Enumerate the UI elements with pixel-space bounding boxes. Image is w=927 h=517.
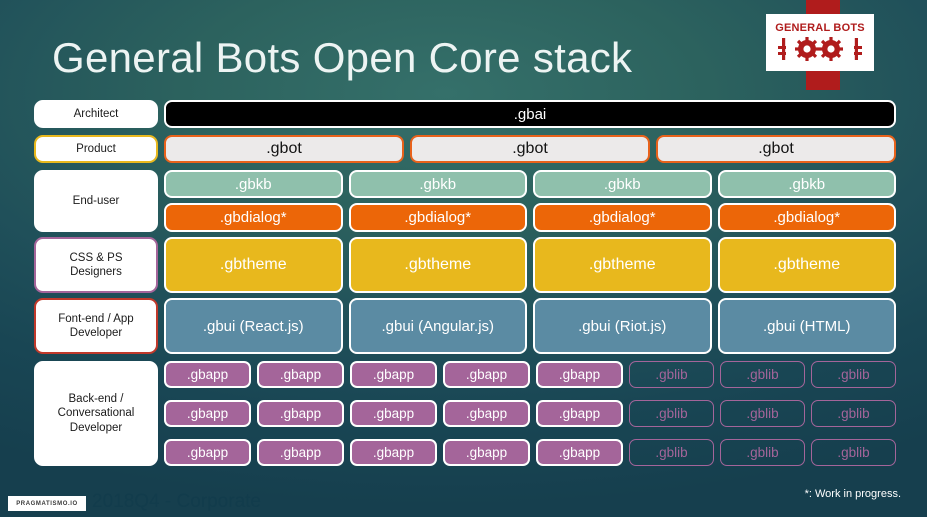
layer-cell-gblib[interactable]: .gblib xyxy=(720,400,805,427)
layer-cell-gbdialog[interactable]: .gbdialog* xyxy=(718,203,897,232)
layer-cell-gbui-react[interactable]: .gbui (React.js) xyxy=(164,298,343,354)
layer-cell-gblib[interactable]: .gblib xyxy=(720,439,805,466)
pragmatismo-logo-text: PRAGMATISMO.IO xyxy=(16,501,78,507)
role-label-text: End-user xyxy=(73,194,120,208)
layer-cell-gbkb[interactable]: .gbkb xyxy=(349,170,528,198)
layer-cell-gblib[interactable]: .gblib xyxy=(811,361,896,388)
layer-cell-gbapp[interactable]: .gbapp xyxy=(443,439,530,466)
layer-cell-gbapp[interactable]: .gbapp xyxy=(443,400,530,427)
layer-cell-gbui-riot[interactable]: .gbui (Riot.js) xyxy=(533,298,712,354)
layer-cell-gbapp[interactable]: .gbapp xyxy=(536,400,623,427)
role-label-line-1: CSS & PS xyxy=(69,251,122,265)
layer-cell-gbapp[interactable]: .gbapp xyxy=(164,400,251,427)
layer-cell-gbtheme[interactable]: .gbtheme xyxy=(349,237,528,293)
page-title: General Bots Open Core stack xyxy=(52,34,632,82)
role-label-line-3: Developer xyxy=(70,421,122,435)
layer-cell-gbui-angular[interactable]: .gbui (Angular.js) xyxy=(349,298,528,354)
role-label-line-2: Designers xyxy=(70,265,122,279)
layer-cell-gbapp[interactable]: .gbapp xyxy=(350,400,437,427)
layer-cell-gbtheme[interactable]: .gbtheme xyxy=(533,237,712,293)
role-label-text: Architect xyxy=(74,107,119,121)
role-label-line-1: Font-end / App xyxy=(58,312,133,326)
layer-cell-gblib[interactable]: .gblib xyxy=(629,361,714,388)
layer-cell-gbkb[interactable]: .gbkb xyxy=(533,170,712,198)
layer-cell-gbapp[interactable]: .gbapp xyxy=(350,361,437,388)
role-label-backend-developer: Back-end / Conversational Developer xyxy=(34,361,158,466)
role-label-designers: CSS & PS Designers xyxy=(34,237,158,293)
stack-diagram: Architect .gbai Product .gbot .gbot .gbo… xyxy=(34,100,896,480)
layer-row-gbtheme: .gbtheme .gbtheme .gbtheme .gbtheme xyxy=(164,237,896,293)
layer-cell-gbapp[interactable]: .gbapp xyxy=(443,361,530,388)
layer-cell-gbot[interactable]: .gbot xyxy=(164,135,404,163)
layer-cell-gbtheme[interactable]: .gbtheme xyxy=(718,237,897,293)
layer-cell-gbui-html[interactable]: .gbui (HTML) xyxy=(718,298,897,354)
role-label-line-2: Conversational xyxy=(58,406,135,420)
layer-cell-gblib[interactable]: .gblib xyxy=(629,400,714,427)
layer-cell-gbapp[interactable]: .gbapp xyxy=(350,439,437,466)
role-label-end-user: End-user xyxy=(34,170,158,232)
layer-row-gbapp-gblib: .gbapp .gbapp .gbapp .gbapp .gbapp .gbli… xyxy=(164,439,896,466)
layer-cell-gbapp[interactable]: .gbapp xyxy=(257,400,344,427)
layer-row-gbui: .gbui (React.js) .gbui (Angular.js) .gbu… xyxy=(164,298,896,354)
layer-cell-gblib[interactable]: .gblib xyxy=(720,361,805,388)
footnote-work-in-progress: *: Work in progress. xyxy=(805,488,901,500)
layer-cell-gbkb[interactable]: .gbkb xyxy=(718,170,897,198)
layer-cell-gbapp[interactable]: .gbapp xyxy=(257,361,344,388)
layer-cell-gbot[interactable]: .gbot xyxy=(410,135,650,163)
layer-cell-gblib[interactable]: .gblib xyxy=(811,439,896,466)
role-label-line-2: Developer xyxy=(70,326,122,340)
layer-cell-gbkb[interactable]: .gbkb xyxy=(164,170,343,198)
layer-row-gbapp-gblib: .gbapp .gbapp .gbapp .gbapp .gbapp .gbli… xyxy=(164,400,896,427)
role-label-product: Product xyxy=(34,135,158,163)
layer-cell-gbot[interactable]: .gbot xyxy=(656,135,896,163)
layer-cell-gbdialog[interactable]: .gbdialog* xyxy=(349,203,528,232)
layer-row-gbot: .gbot .gbot .gbot xyxy=(164,135,896,163)
role-label-architect: Architect xyxy=(34,100,158,128)
footer-caption: 2018Q4 - Corporate xyxy=(92,491,261,513)
layer-cell-gbapp[interactable]: .gbapp xyxy=(536,361,623,388)
gears-icon xyxy=(778,35,862,63)
layer-cell-gbtheme[interactable]: .gbtheme xyxy=(164,237,343,293)
logo-wordmark: GENERAL BOTS xyxy=(775,23,865,34)
layer-cell-gbapp[interactable]: .gbapp xyxy=(164,439,251,466)
general-bots-logo: GENERAL BOTS xyxy=(766,14,874,71)
layer-row-gbkb: .gbkb .gbkb .gbkb .gbkb xyxy=(164,170,896,198)
layer-cell-gbapp[interactable]: .gbapp xyxy=(257,439,344,466)
role-label-frontend-developer: Font-end / App Developer xyxy=(34,298,158,354)
layer-cell-gbdialog[interactable]: .gbdialog* xyxy=(164,203,343,232)
layer-cell-gbdialog[interactable]: .gbdialog* xyxy=(533,203,712,232)
layer-row-gbdialog: .gbdialog* .gbdialog* .gbdialog* .gbdial… xyxy=(164,203,896,232)
role-label-text: Product xyxy=(76,142,116,156)
pragmatismo-logo: PRAGMATISMO.IO xyxy=(8,496,86,511)
layer-row-gbai: .gbai xyxy=(164,100,896,128)
layer-cell-gbapp[interactable]: .gbapp xyxy=(536,439,623,466)
layer-cell-gbapp[interactable]: .gbapp xyxy=(164,361,251,388)
layer-cell-gblib[interactable]: .gblib xyxy=(629,439,714,466)
layer-cell-gblib[interactable]: .gblib xyxy=(811,400,896,427)
layer-cell-gbai[interactable]: .gbai xyxy=(164,100,896,128)
layer-row-gbapp-gblib: .gbapp .gbapp .gbapp .gbapp .gbapp .gbli… xyxy=(164,361,896,388)
slide-canvas: GENERAL BOTS xyxy=(0,0,927,517)
role-label-line-1: Back-end / xyxy=(69,392,124,406)
